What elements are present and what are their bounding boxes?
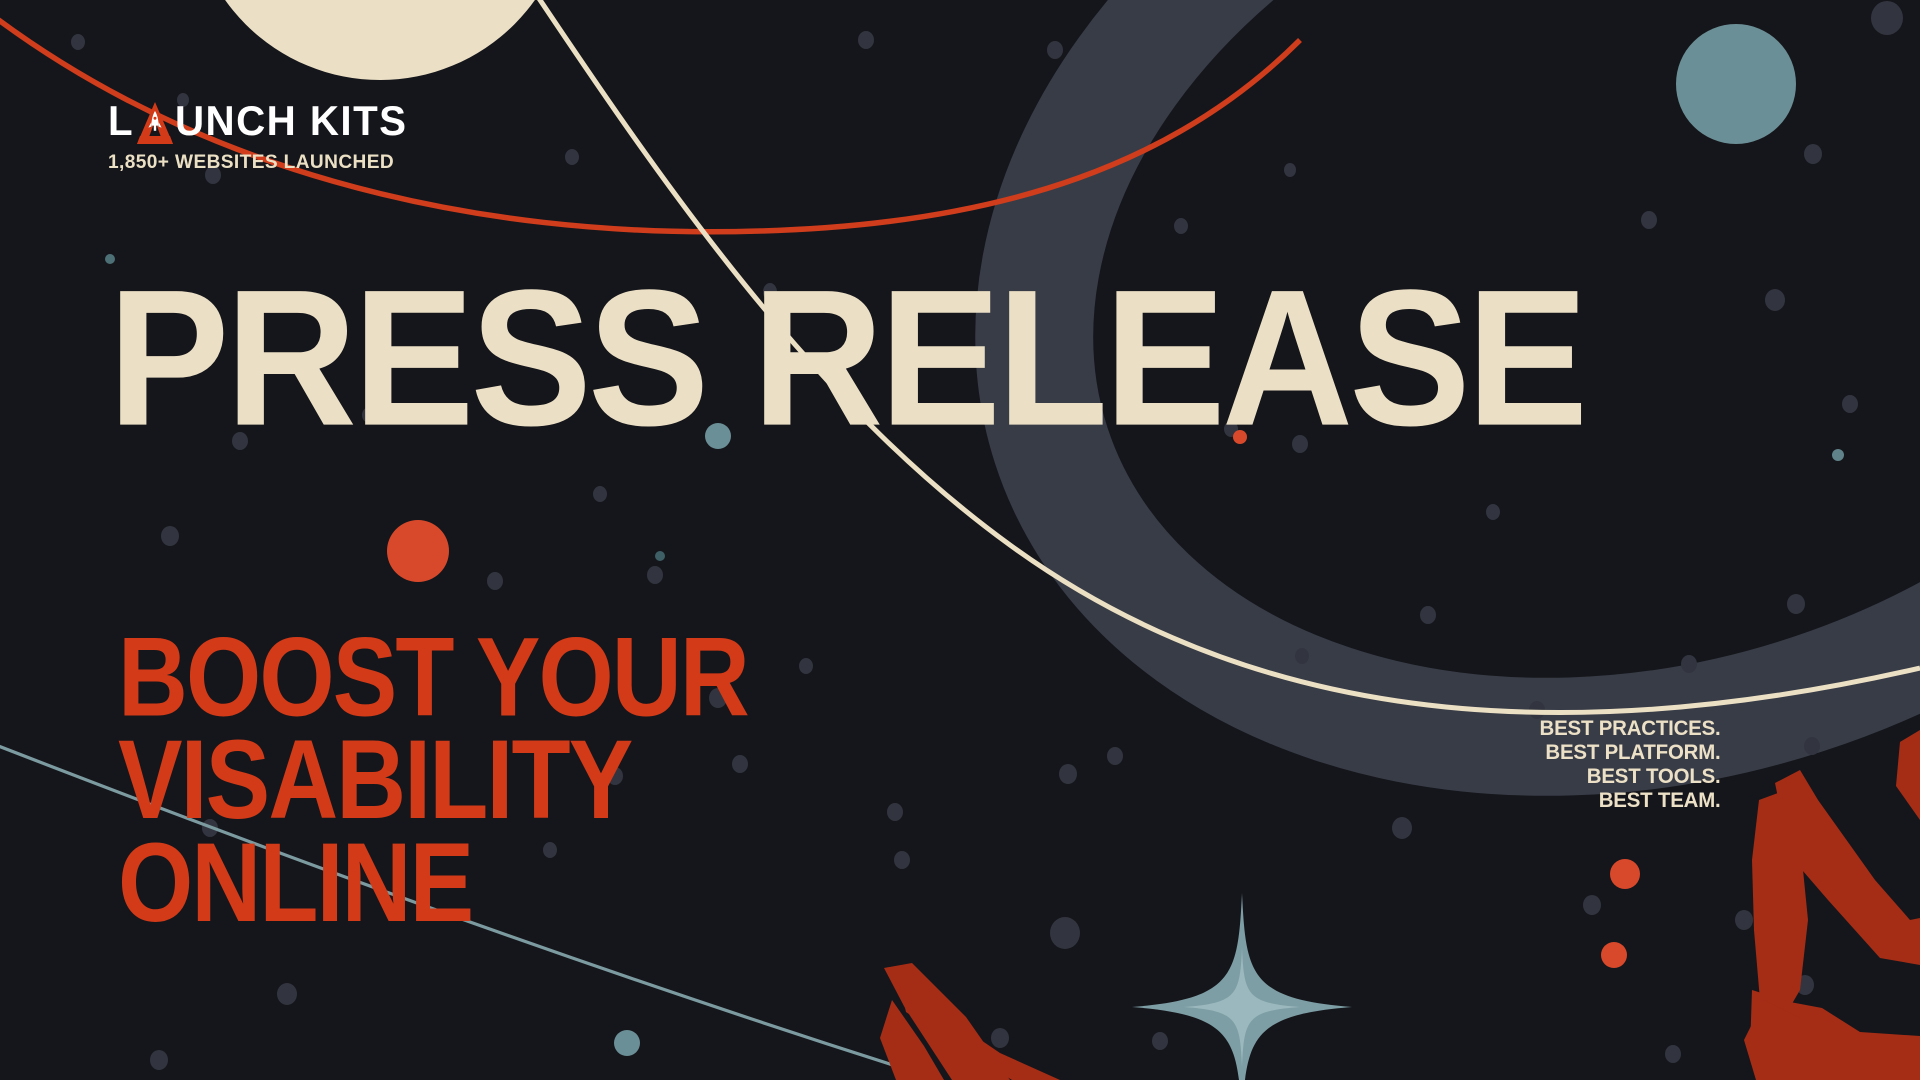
press-release-poster: L UNCH KITS 1,850+ WEBSITES LAUNCHED PRE… (0, 0, 1920, 1080)
subheadline-line-2: VISABILITY (118, 730, 748, 833)
claim-line-3: BEST TOOLS. (1540, 764, 1721, 788)
wordmark-prefix: L (108, 100, 134, 142)
red-dot-small (1601, 942, 1627, 968)
red-dot-large (387, 520, 449, 582)
brand-wordmark[interactable]: L UNCH KITS (108, 100, 417, 144)
claim-line-2: BEST PLATFORM. (1540, 740, 1721, 764)
claims-block: BEST PRACTICES. BEST PLATFORM. BEST TOOL… (1540, 716, 1721, 812)
red-dot-mid (1610, 859, 1640, 889)
brand-logo-block[interactable]: L UNCH KITS 1,850+ WEBSITES LAUNCHED (108, 100, 417, 174)
teal-planet (1676, 24, 1796, 144)
wordmark-suffix: UNCH KITS (175, 100, 407, 142)
subheadline-line-3: ONLINE (118, 833, 748, 936)
subheadline: BOOST YOUR VISABILITY ONLINE (118, 627, 748, 935)
page-title: PRESS RELEASE (108, 272, 1584, 443)
claim-line-1: BEST PRACTICES. (1540, 716, 1721, 740)
subheadline-line-1: BOOST YOUR (118, 627, 748, 730)
brand-tagline: 1,850+ WEBSITES LAUNCHED (108, 151, 411, 174)
claim-line-4: BEST TEAM. (1540, 788, 1721, 812)
rocket-in-triangle-icon (136, 102, 174, 144)
